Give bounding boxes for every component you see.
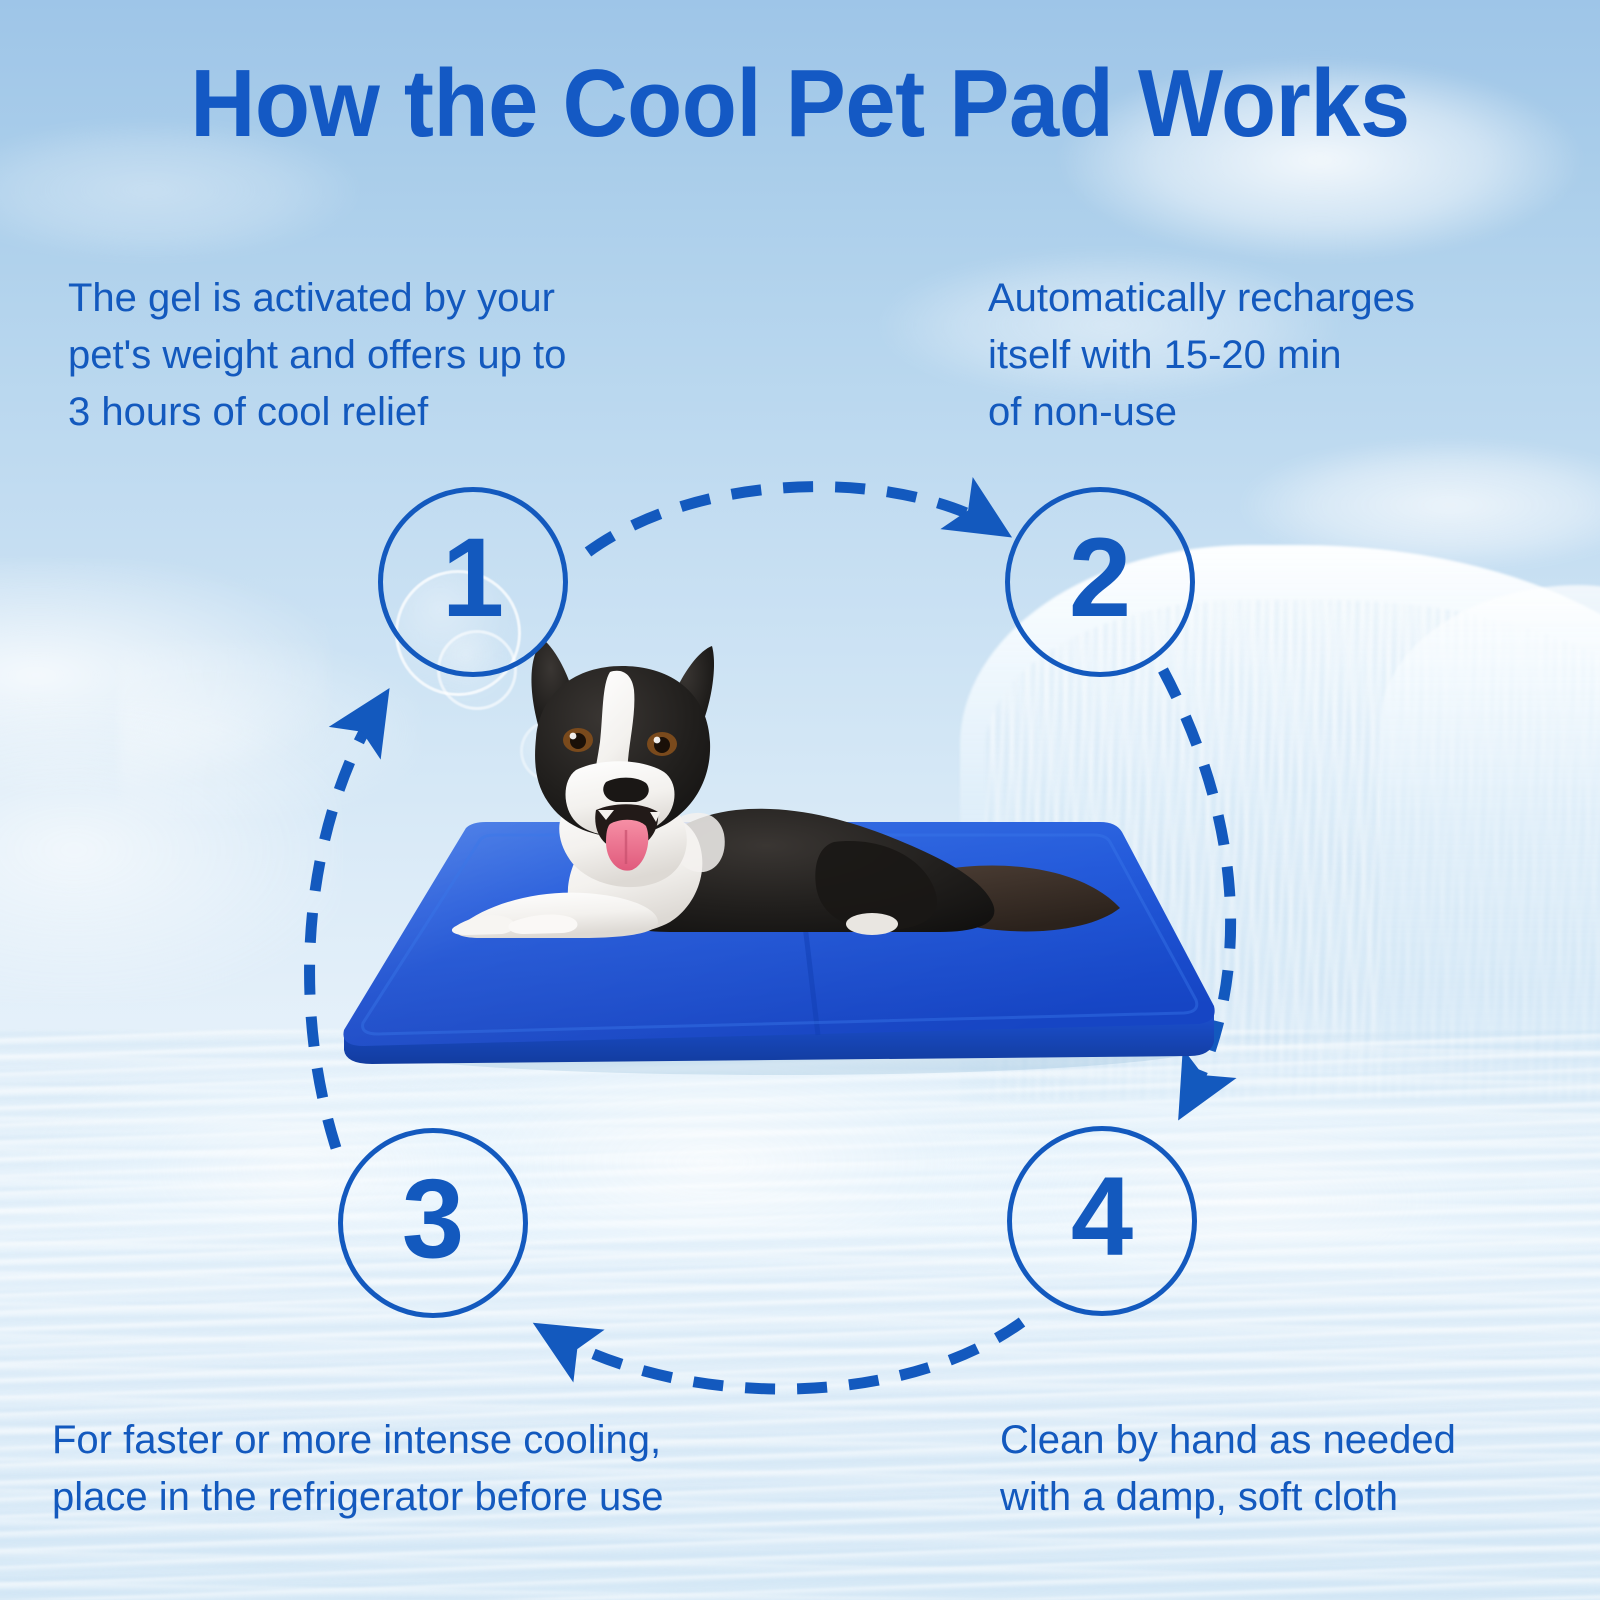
step-circle-1: 1 (378, 487, 568, 677)
dog-hind-paw (846, 913, 898, 935)
frost-spray (120, 640, 420, 820)
dog-photo (420, 620, 1140, 1020)
cloud-shape (1240, 440, 1600, 570)
infographic-poster: How the Cool Pet Pad Works The gel is ac… (0, 0, 1600, 1600)
dog-paw (452, 915, 514, 935)
page-title: How the Cool Pet Pad Works (48, 54, 1552, 155)
step-caption-2: Automatically recharges itself with 15-2… (988, 270, 1588, 440)
arrow-2-to-4 (1163, 670, 1231, 1108)
step-caption-3: For faster or more intense cooling, plac… (52, 1412, 812, 1526)
frost-spray (0, 560, 330, 790)
step-number-1: 1 (442, 522, 504, 634)
arrow-3-to-1 (310, 700, 382, 1148)
step-caption-1: The gel is activated by your pet's weigh… (68, 270, 708, 440)
mat-shadow (350, 1015, 1210, 1075)
step-number-2: 2 (1069, 522, 1131, 634)
step-circle-2: 2 (1005, 487, 1195, 677)
arrow-4-to-3 (545, 1322, 1022, 1389)
step-circle-4: 4 (1007, 1126, 1197, 1316)
frost-spray (0, 700, 340, 1000)
glacier-wall-secondary (1380, 585, 1600, 1105)
step-circle-3: 3 (338, 1128, 528, 1318)
ice-mound (900, 1040, 1600, 1270)
arrow-1-to-2 (588, 487, 1000, 552)
dog-nose (603, 778, 649, 802)
step-number-4: 4 (1071, 1161, 1133, 1273)
step-caption-4: Clean by hand as needed with a damp, sof… (1000, 1412, 1600, 1526)
step-number-3: 3 (402, 1163, 464, 1275)
